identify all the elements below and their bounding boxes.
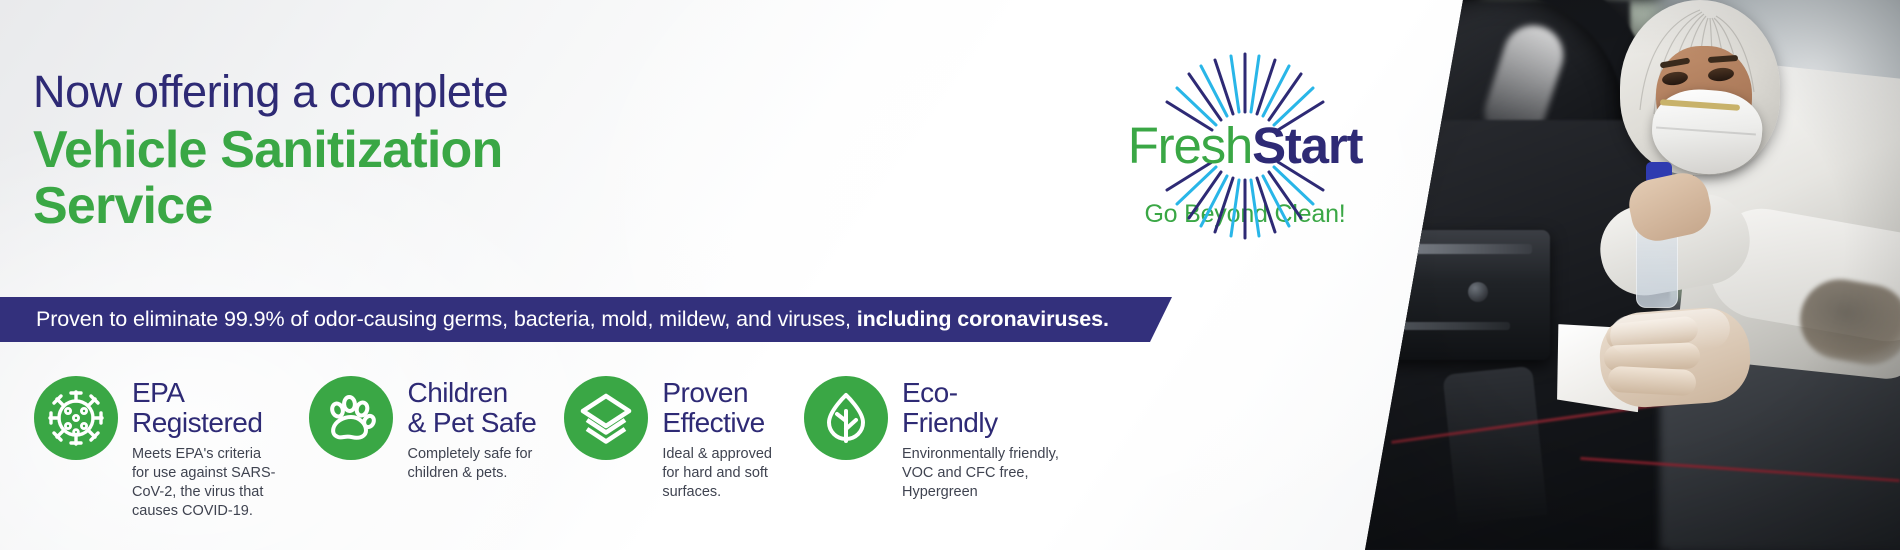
virus-icon <box>46 388 106 448</box>
headline-line-1: Now offering a complete <box>33 66 508 118</box>
layers-icon <box>577 389 635 447</box>
feature-title: Proven Effective <box>662 378 772 438</box>
feature-item-eco-friendly: Eco- Friendly Environmentally friendly, … <box>804 378 1059 502</box>
logo-wordmark: FreshStart <box>1095 86 1395 206</box>
feature-item-proven-effective: Proven Effective Ideal & approved for ha… <box>564 378 772 502</box>
claim-text-bold: including coronaviruses. <box>857 307 1109 331</box>
headline-line-3: Service <box>33 178 508 234</box>
feature-text-proven-effective: Proven Effective Ideal & approved for ha… <box>662 378 772 502</box>
logo-wordmark-wrap: FreshStart <box>1095 86 1395 206</box>
claim-strip: Proven to eliminate 99.9% of odor-causin… <box>0 297 1172 342</box>
claim-strip-text: Proven to eliminate 99.9% of odor-causin… <box>36 307 1109 332</box>
leaf-icon <box>817 389 875 447</box>
logo-fresh-text: Fresh <box>1128 117 1252 174</box>
fresh-start-logo: FreshStart Go Beyond Clean! <box>1095 86 1395 229</box>
feature-text-children-pet-safe: Children & Pet Safe Completely safe for … <box>407 378 536 483</box>
layers-icon-badge <box>564 376 648 460</box>
feature-title: EPA Registered <box>132 378 275 438</box>
headline-line-2: Vehicle Sanitization <box>33 122 508 178</box>
feature-list: EPA Registered Meets EPA's criteria for … <box>34 378 1059 521</box>
virus-icon-badge <box>34 376 118 460</box>
feature-item-epa-registered: EPA Registered Meets EPA's criteria for … <box>34 378 275 521</box>
technician-sanitizing-car-photo <box>1330 0 1900 550</box>
sanitization-service-banner: Now offering a complete Vehicle Sanitiza… <box>0 0 1900 550</box>
feature-title: Eco- Friendly <box>902 378 1059 438</box>
feature-text-eco-friendly: Eco- Friendly Environmentally friendly, … <box>902 378 1059 502</box>
feature-description: Meets EPA's criteria for use against SAR… <box>132 445 275 521</box>
feature-description: Ideal & approved for hard and soft surfa… <box>662 445 772 502</box>
feature-description: Environmentally friendly, VOC and CFC fr… <box>902 445 1059 502</box>
feature-item-children-pet-safe: Children & Pet Safe Completely safe for … <box>309 378 536 483</box>
photo-vignette <box>1330 0 1900 550</box>
console-knob-large <box>1380 274 1408 302</box>
feature-title: Children & Pet Safe <box>407 378 536 438</box>
paw-print-icon <box>322 389 380 447</box>
feature-description: Completely safe for children & pets. <box>407 445 536 483</box>
paw-print-icon-badge <box>309 376 393 460</box>
feature-text-epa-registered: EPA Registered Meets EPA's criteria for … <box>132 378 275 521</box>
photo-inner <box>1330 0 1900 550</box>
headline-block: Now offering a complete Vehicle Sanitiza… <box>33 66 508 234</box>
claim-text-regular: Proven to eliminate 99.9% of odor-causin… <box>36 307 857 331</box>
logo-start-text: Start <box>1252 117 1362 174</box>
leaf-icon-badge <box>804 376 888 460</box>
